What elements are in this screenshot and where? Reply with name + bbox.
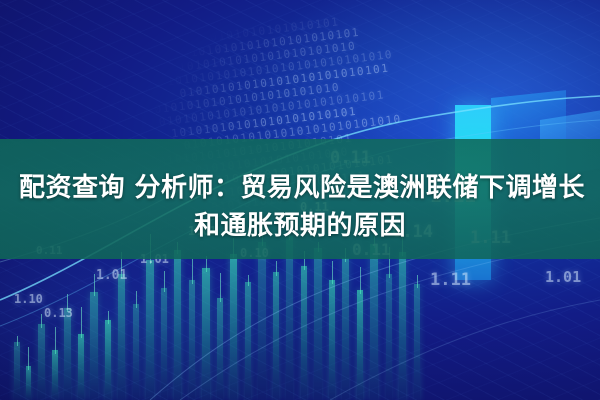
decimal-figure: 1.11 <box>430 270 471 290</box>
decimal-figure: 1.01 <box>96 268 127 283</box>
headline-line-1: 配资查询 分析师：贸易风险是澳洲联储下调增长 <box>0 169 600 207</box>
decimal-figure: 1.01 <box>545 268 581 286</box>
banner-image: 0101010101010101010101010110101010101010… <box>0 0 600 400</box>
headline-line-2: 和通胀预期的原因 <box>0 207 600 245</box>
page-title: 配资查询 分析师：贸易风险是澳洲联储下调增长 和通胀预期的原因 <box>0 169 600 245</box>
decimal-figure: 0.13 <box>44 306 73 320</box>
decimal-figure: 1.10 <box>14 292 43 306</box>
